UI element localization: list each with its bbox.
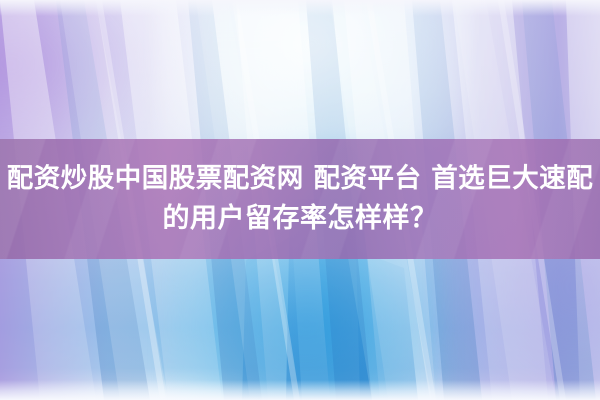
caption-line-1: 配资炒股中国股票配资网 配资平台 首选巨大速配 [7,159,593,199]
bottom-fade-strip [0,380,600,400]
caption-line-2: 的用户留存率怎样样？ [163,199,438,239]
promo-banner: 配资炒股中国股票配资网 配资平台 首选巨大速配 的用户留存率怎样样？ [0,0,600,400]
top-fade-strip [0,0,600,16]
caption-band: 配资炒股中国股票配资网 配资平台 首选巨大速配 的用户留存率怎样样？ [0,139,600,259]
